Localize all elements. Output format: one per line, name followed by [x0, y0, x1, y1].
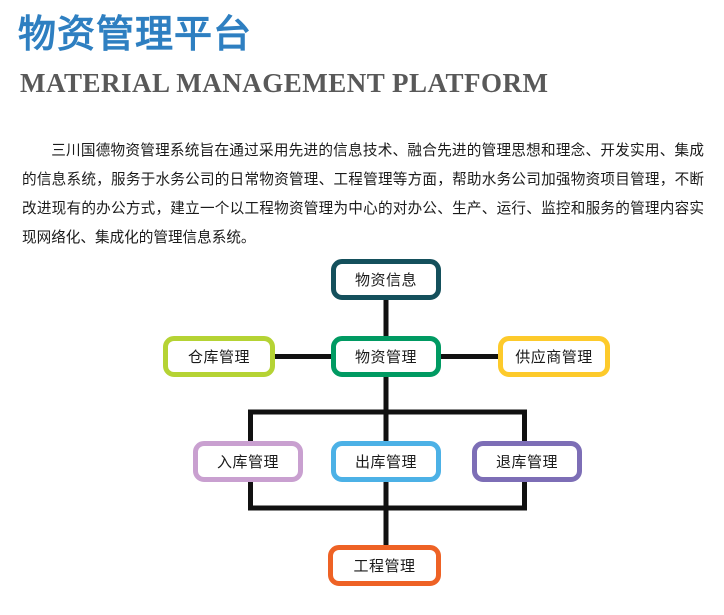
node-label: 工程管理 — [353, 555, 415, 576]
node-label: 出库管理 — [355, 451, 417, 472]
node-label: 仓库管理 — [188, 346, 250, 367]
diagram-node-supplier-management[interactable]: 供应商管理 — [498, 336, 610, 377]
system-architecture-diagram: 物资信息 仓库管理 物资管理 供应商管理 入库管理 出库管理 退库管理 工程管理 — [0, 248, 724, 596]
diagram-node-inbound-management[interactable]: 入库管理 — [193, 441, 303, 482]
diagram-node-returns-management[interactable]: 退库管理 — [472, 441, 582, 482]
node-label: 供应商管理 — [515, 346, 593, 367]
diagram-connectors — [0, 248, 724, 596]
node-label: 物资信息 — [355, 269, 417, 290]
diagram-node-project-management[interactable]: 工程管理 — [328, 545, 441, 586]
diagram-node-outbound-management[interactable]: 出库管理 — [331, 441, 441, 482]
intro-paragraph: 三川国德物资管理系统旨在通过采用先进的信息技术、融合先进的管理思想和理念、开发实… — [22, 137, 704, 253]
diagram-node-material-management[interactable]: 物资管理 — [331, 336, 441, 377]
node-label: 入库管理 — [217, 451, 279, 472]
node-label: 退库管理 — [496, 451, 558, 472]
page-title: 物资管理平台 — [18, 14, 252, 58]
diagram-node-warehouse-management[interactable]: 仓库管理 — [163, 336, 275, 377]
page-subtitle: MATERIAL MANAGEMENT PLATFORM — [20, 68, 549, 99]
node-label: 物资管理 — [355, 346, 417, 367]
diagram-node-material-info[interactable]: 物资信息 — [331, 259, 441, 300]
